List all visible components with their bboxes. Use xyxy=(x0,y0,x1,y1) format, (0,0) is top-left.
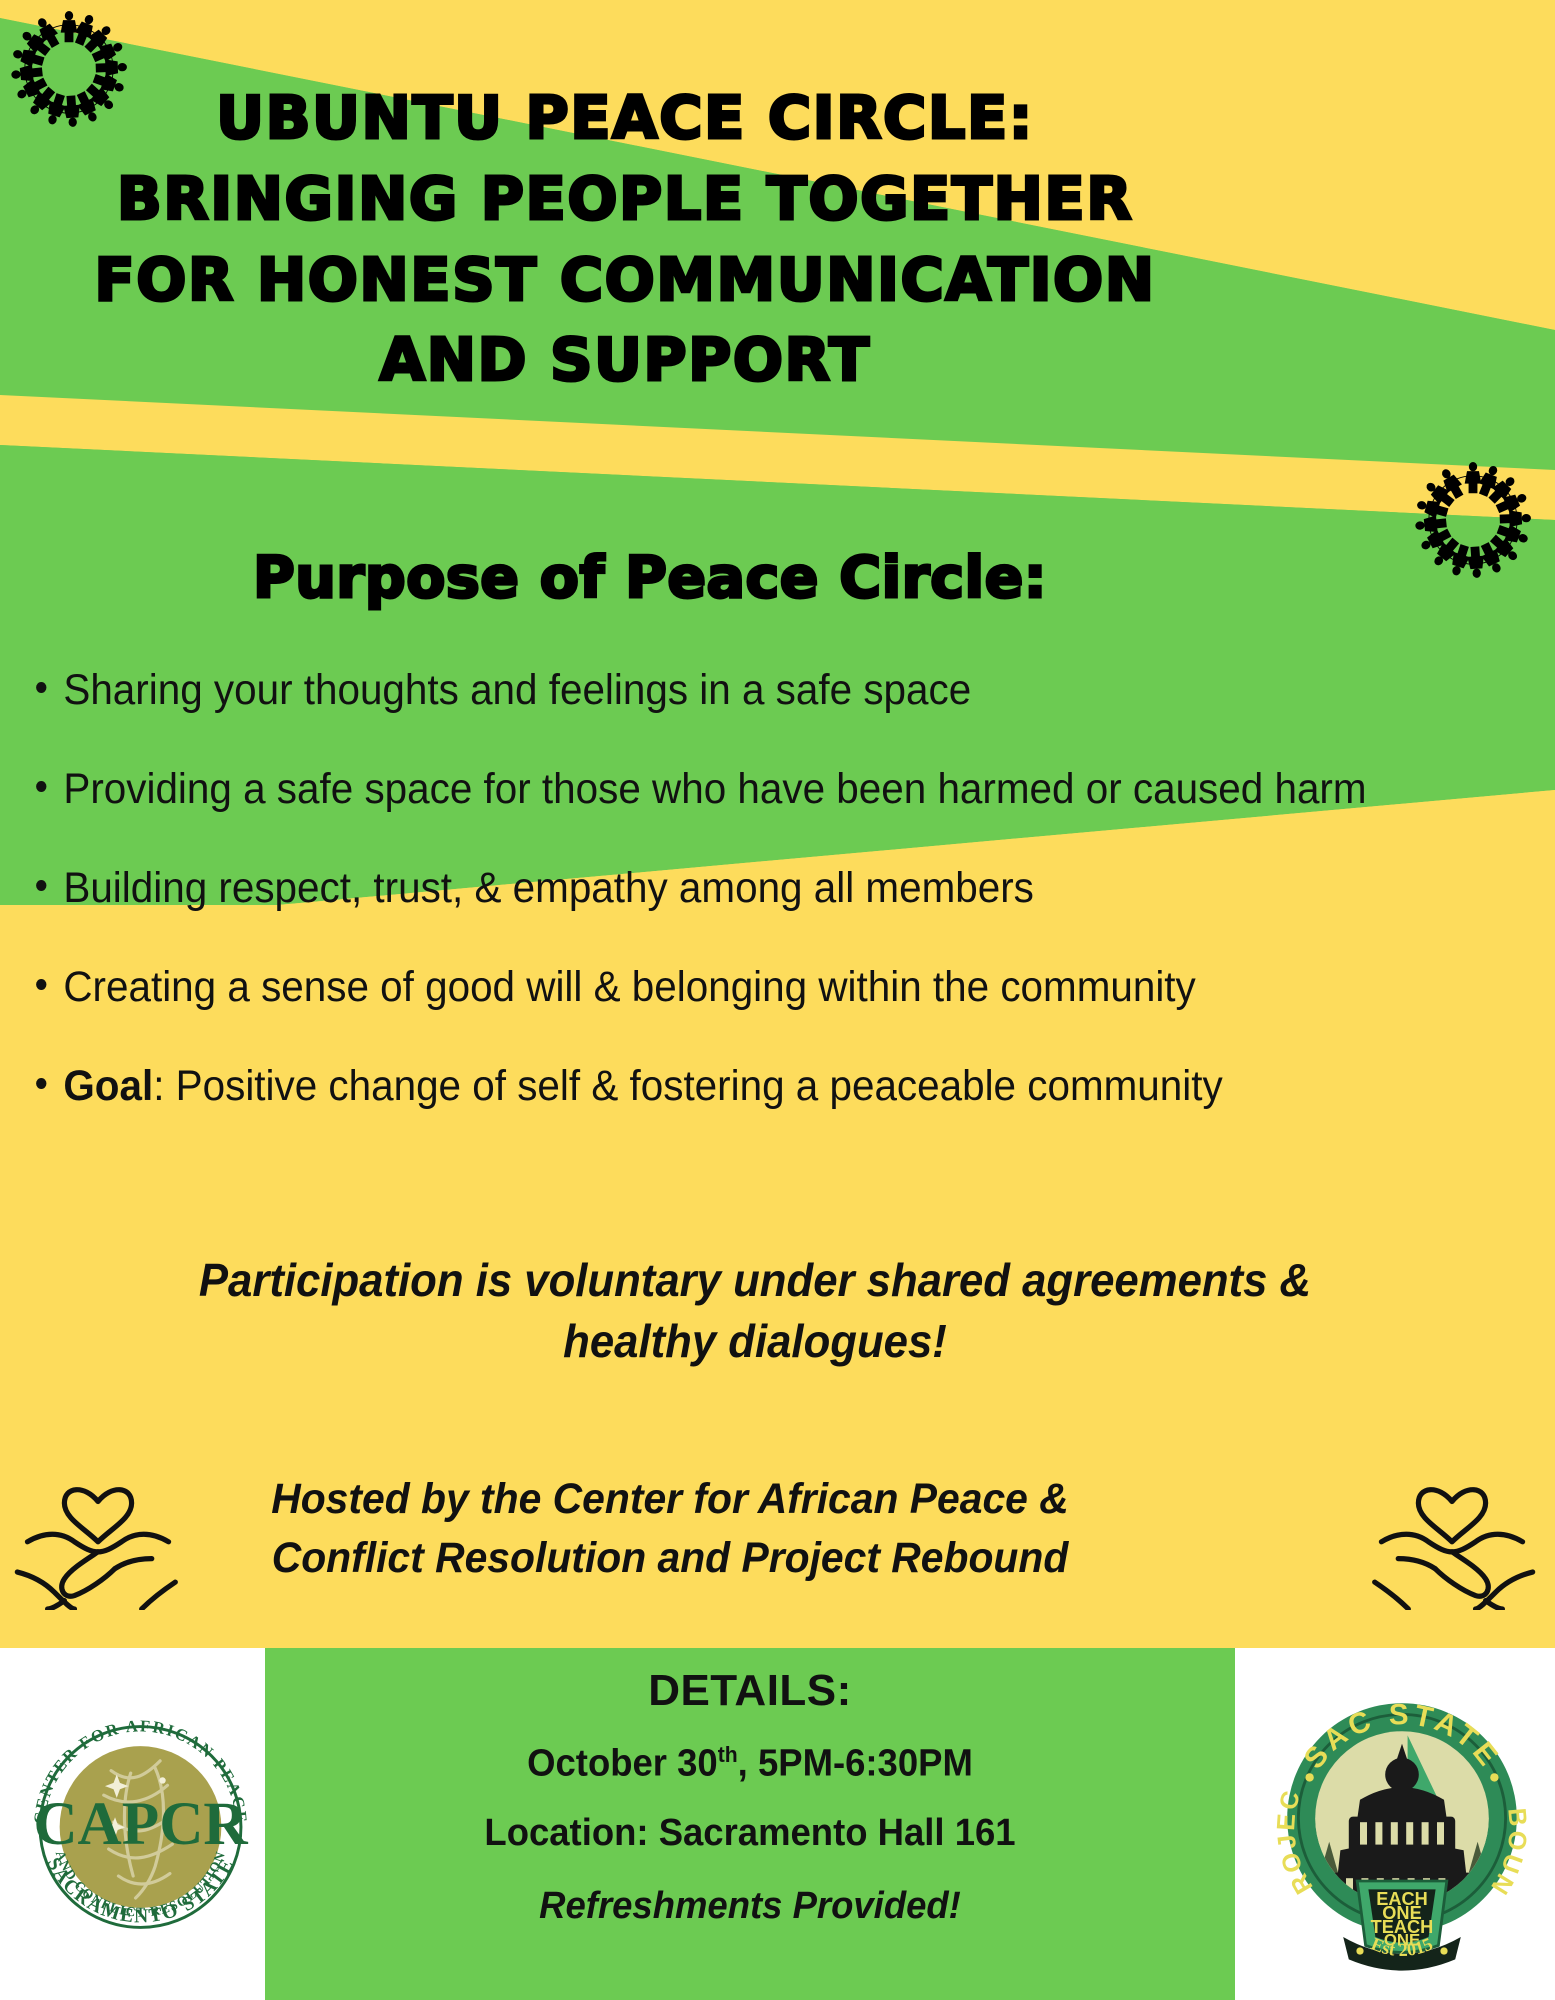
bullet-text: : Positive change of self & fostering a … xyxy=(153,1062,1222,1110)
details-date: October 30th, 5PM-6:30PM xyxy=(284,1742,1215,1786)
bullet-emphasis: Goal xyxy=(63,1062,153,1110)
purpose-bullet-list: Sharing your thoughts and feelings in a … xyxy=(22,660,1532,1155)
project-rebound-logo: EACH ONE TEACH ONE Est 2015 SAC STATE PR… xyxy=(1262,1660,1542,1990)
handshake-heart-icon xyxy=(14,1440,182,1610)
bullet-text: Sharing your thoughts and feelings in a … xyxy=(63,666,971,714)
page-title: Ubuntu Peace Circle: Bringing People Tog… xyxy=(60,78,1190,401)
date-prefix: October 30 xyxy=(527,1743,718,1785)
list-item: Goal: Positive change of self & fosterin… xyxy=(22,1056,1441,1117)
date-time: , 5PM-6:30PM xyxy=(738,1743,973,1785)
bullet-text: Providing a safe space for those who hav… xyxy=(63,765,1366,813)
handshake-heart-icon xyxy=(1368,1440,1536,1610)
list-item: Building respect, trust, & empathy among… xyxy=(22,858,1441,919)
bullet-text: Building respect, trust, & empathy among… xyxy=(63,864,1034,912)
circle-of-people-icon xyxy=(1408,455,1538,585)
circle-of-people-icon xyxy=(4,4,134,134)
details-box: DETAILS: October 30th, 5PM-6:30PM Locati… xyxy=(265,1648,1235,2000)
date-ordinal-suffix: th xyxy=(718,1742,738,1767)
purpose-heading: Purpose of Peace Circle: xyxy=(60,545,1240,611)
poster-root: Ubuntu Peace Circle: Bringing People Tog… xyxy=(0,0,1555,2000)
details-heading: DETAILS: xyxy=(265,1666,1235,1716)
capcr-acronym: CAPCR xyxy=(33,1790,248,1858)
list-item: Sharing your thoughts and feelings in a … xyxy=(22,660,1441,721)
details-refreshments: Refreshments Provided! xyxy=(284,1885,1215,1928)
details-location: Location: Sacramento Hall 161 xyxy=(284,1812,1215,1855)
bullet-text: Creating a sense of good will & belongin… xyxy=(63,963,1195,1011)
voluntary-note: Participation is voluntary under shared … xyxy=(123,1250,1387,1371)
list-item: Creating a sense of good will & belongin… xyxy=(22,957,1441,1018)
capcr-logo: CENTER FOR AFRICAN PEACE AND CONFLICT RE… xyxy=(18,1672,263,1982)
list-item: Providing a safe space for those who hav… xyxy=(22,759,1441,820)
hosted-by-note: Hosted by the Center for African Peace &… xyxy=(252,1470,1088,1589)
